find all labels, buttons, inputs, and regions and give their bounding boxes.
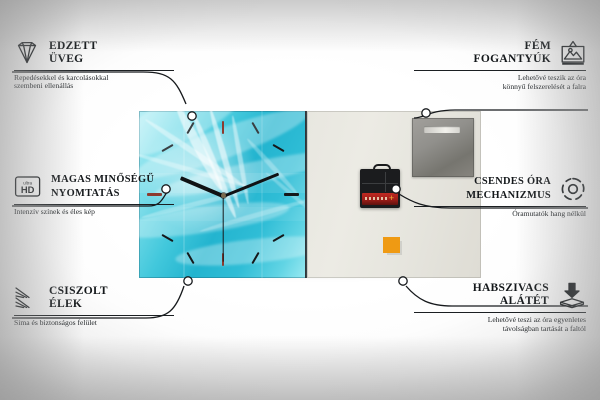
feature-divider [414,70,586,71]
feature-silent-mechanism: CSENDES ÓRA MECHANIZMUS Óramutatók hang … [414,176,586,219]
feature-tempered-glass: EDZETT ÜVEG Repedésekkel és karcolásokka… [14,40,174,91]
metal-bracket [412,118,474,177]
foam-pad [383,237,400,253]
mechanism-seam-vertical [385,172,386,192]
battery-text [365,197,387,200]
feature-metal-handles: FÉM FOGANTYÚK Lehetővé teszik az óra kön… [414,40,586,92]
mechanism-hook [373,164,391,173]
feature-divider [414,312,586,313]
feature-desc-line2: távolságban tartását a faltól [414,325,586,334]
ultra-hd-icon: ultra HD [14,175,42,198]
polished-edges-icon [14,286,40,309]
battery-plus-icon: + [388,195,395,202]
feature-divider [14,315,174,316]
bracket-slot [424,126,460,133]
feature-desc-line1: Intenzív színek és éles kép [14,208,174,217]
feature-desc-line2: könnyű felszerelését a falra [414,83,586,92]
feature-desc-line1: Sima és biztonságos felület [14,319,174,328]
feature-foam-pad: HABSZIVACS ALÁTÉT Lehetővé teszi az óra … [414,282,586,334]
battery-label: + [362,193,398,205]
feature-title-line2: ALÁTÉT [500,295,549,308]
feature-title-line1: HABSZIVACS [473,282,549,295]
feature-high-quality-print: ultra HD MAGAS MINŐSÉGŰ NYOMTATÁS Intenz… [14,174,174,216]
feature-title-line2: ÜVEG [49,53,97,66]
clock-mechanism: + [360,169,400,208]
diamond-icon [14,41,40,65]
feature-title-line2: NYOMTATÁS [51,187,154,200]
feature-title-line1: MAGAS MINŐSÉGŰ [51,174,154,187]
mechanism-seam [362,183,398,184]
feature-title-line2: FOGANTYÚK [474,53,551,66]
feature-title-line2: ÉLEK [49,298,108,311]
feature-title-line1: CSISZOLT [49,285,108,298]
gear-icon [560,176,586,202]
ultra-hd-icon-large-text: HD [21,184,35,195]
feature-polished-edges: CSISZOLT ÉLEK Sima és biztonságos felüle… [14,285,174,327]
feature-desc-line1: Óramutatók hang nélkül [414,210,586,219]
feature-title-line2: MECHANIZMUS [466,189,551,202]
foam-pad-icon [558,282,586,308]
feature-title-line1: FÉM [525,40,551,53]
picture-frame-icon [560,40,586,66]
feature-desc-line2: szembeni ellenállás [14,82,174,91]
feature-divider [414,206,586,207]
feature-divider [14,204,174,205]
infographic-canvas: + [0,0,600,400]
feature-divider [14,70,174,71]
feature-title-line1: EDZETT [49,40,97,53]
feature-title-line1: CSENDES ÓRA [474,176,551,189]
